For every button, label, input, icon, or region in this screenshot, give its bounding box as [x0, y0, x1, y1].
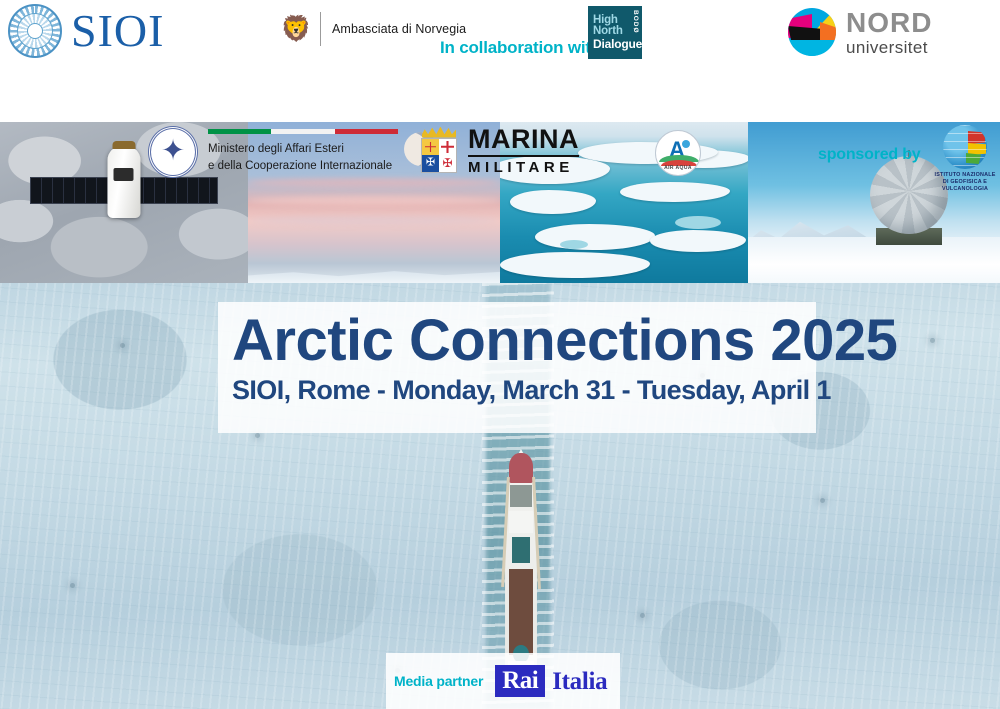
- sioi-acronym: SIOI: [71, 8, 164, 54]
- melt-pond: [560, 240, 588, 249]
- ship-bridge: [509, 511, 533, 533]
- ship-superstructure: [512, 537, 530, 563]
- ship-cargo-deck: [509, 569, 533, 655]
- ministero-text-block: Ministero degli Affari Esteri e della Co…: [208, 129, 398, 174]
- air-aqua-dot-icon: [682, 140, 690, 148]
- divider: [320, 12, 321, 46]
- ice-crack-dot: [930, 338, 935, 343]
- solar-panel-right-icon: [132, 177, 218, 204]
- snowfield: [748, 237, 1000, 283]
- air-aqua-label: AIR AQUA: [656, 165, 700, 171]
- solar-panel-left-icon: [30, 177, 116, 204]
- ingv-globe-icon: [943, 125, 987, 169]
- ministero-line-2: e della Cooperazione Internazionale: [208, 158, 398, 175]
- logo-row-primary: SIOI 🦁 Ambasciata di Norvegia In collabo…: [0, 0, 1000, 66]
- rai-badge: Rai: [495, 665, 545, 697]
- hnd-badge: High North Dialogue BODØ: [588, 6, 642, 59]
- marina-wordmark: MARINA MILITARE: [468, 126, 579, 175]
- italia-wordmark: Italia: [552, 669, 607, 694]
- rai-italia-logo[interactable]: Rai Italia: [495, 665, 607, 697]
- air-aqua-circle-icon: A AIR AQUA: [655, 130, 701, 176]
- high-north-dialogue-logo[interactable]: High North Dialogue BODØ: [588, 6, 642, 59]
- hnd-line-3: Dialogue: [593, 38, 642, 50]
- melt-pond: [675, 216, 721, 229]
- nord-universitet-logo[interactable]: NORD universitet: [788, 8, 932, 56]
- page-title: Arctic Connections 2025: [232, 312, 802, 370]
- ship-bow-deck: [509, 453, 533, 483]
- ice-crack-dot: [820, 498, 825, 503]
- sponsored-by-label: sponsored by: [818, 146, 921, 164]
- logo-header: SIOI 🦁 Ambasciata di Norvegia In collabo…: [0, 0, 1000, 122]
- ice-floe: [500, 252, 650, 278]
- cloud-band: [248, 178, 500, 187]
- nord-subtitle: universitet: [846, 39, 932, 56]
- cloud-band: [248, 216, 500, 225]
- ice-floe: [620, 182, 730, 202]
- ministero-line-1: Ministero degli Affari Esteri: [208, 141, 398, 158]
- event-subtitle: SIOI, Rome - Monday, March 31 - Tuesday,…: [232, 376, 802, 406]
- marina-militare-crest-icon: [418, 127, 460, 175]
- ingv-logo[interactable]: ISTITUTO NAZIONALE DI GEOFISICA E VULCAN…: [930, 125, 1000, 192]
- media-partner-band: Media partner Rai Italia: [386, 653, 620, 709]
- norway-embassy-label: Ambasciata di Norvegia: [332, 22, 466, 36]
- cloud-band: [248, 196, 500, 205]
- logo-row-secondary: ✦ Ministero degli Affari Esteri e della …: [0, 62, 1000, 122]
- spacecraft-capsule-icon: [108, 146, 141, 218]
- snow-ridge: [248, 265, 500, 283]
- ingv-line-1: ISTITUTO NAZIONALE: [930, 172, 1000, 179]
- event-title-band: Arctic Connections 2025 SIOI, Rome - Mon…: [218, 302, 816, 433]
- italian-republic-emblem-icon: ✦: [148, 126, 198, 178]
- marina-line-2: MILITARE: [468, 160, 579, 175]
- ship-forward-structure: [510, 485, 532, 507]
- nord-name: NORD: [846, 9, 932, 37]
- marina-line-1: MARINA: [468, 126, 579, 157]
- nord-colour-circle-icon: [788, 8, 836, 56]
- ice-floe: [510, 190, 596, 214]
- sioi-logo[interactable]: SIOI: [8, 4, 164, 58]
- hnd-city-label: BODØ: [632, 10, 639, 34]
- media-partner-label: Media partner: [394, 673, 483, 689]
- ice-floe: [650, 230, 746, 252]
- nord-wordmark: NORD universitet: [846, 9, 932, 56]
- sioi-rosette-icon: [8, 4, 62, 58]
- ice-crack-dot: [120, 343, 125, 348]
- marina-militare-logo[interactable]: MARINA MILITARE: [418, 126, 579, 175]
- ingv-line-2: DI GEOFISICA E VULCANOLOGIA: [930, 179, 1000, 193]
- italian-flag-bar-icon: [208, 129, 398, 134]
- ice-crack-dot: [255, 433, 260, 438]
- ice-crack-dot: [640, 613, 645, 618]
- collaboration-label: In collaboration with: [440, 38, 601, 58]
- norwegian-lion-crest-icon: 🦁: [283, 12, 309, 46]
- event-poster: SIOI 🦁 Ambasciata di Norvegia In collabo…: [0, 0, 1000, 709]
- air-aqua-logo[interactable]: A AIR AQUA: [655, 130, 701, 176]
- ingv-wordmark: ISTITUTO NAZIONALE DI GEOFISICA E VULCAN…: [930, 172, 1000, 192]
- norway-embassy-logo[interactable]: 🦁 Ambasciata di Norvegia: [283, 12, 466, 46]
- ministero-affari-esteri-logo[interactable]: ✦ Ministero degli Affari Esteri e della …: [148, 126, 398, 178]
- ice-floe: [535, 224, 655, 250]
- rai-wordmark: Rai: [502, 667, 538, 694]
- ice-crack-dot: [70, 583, 75, 588]
